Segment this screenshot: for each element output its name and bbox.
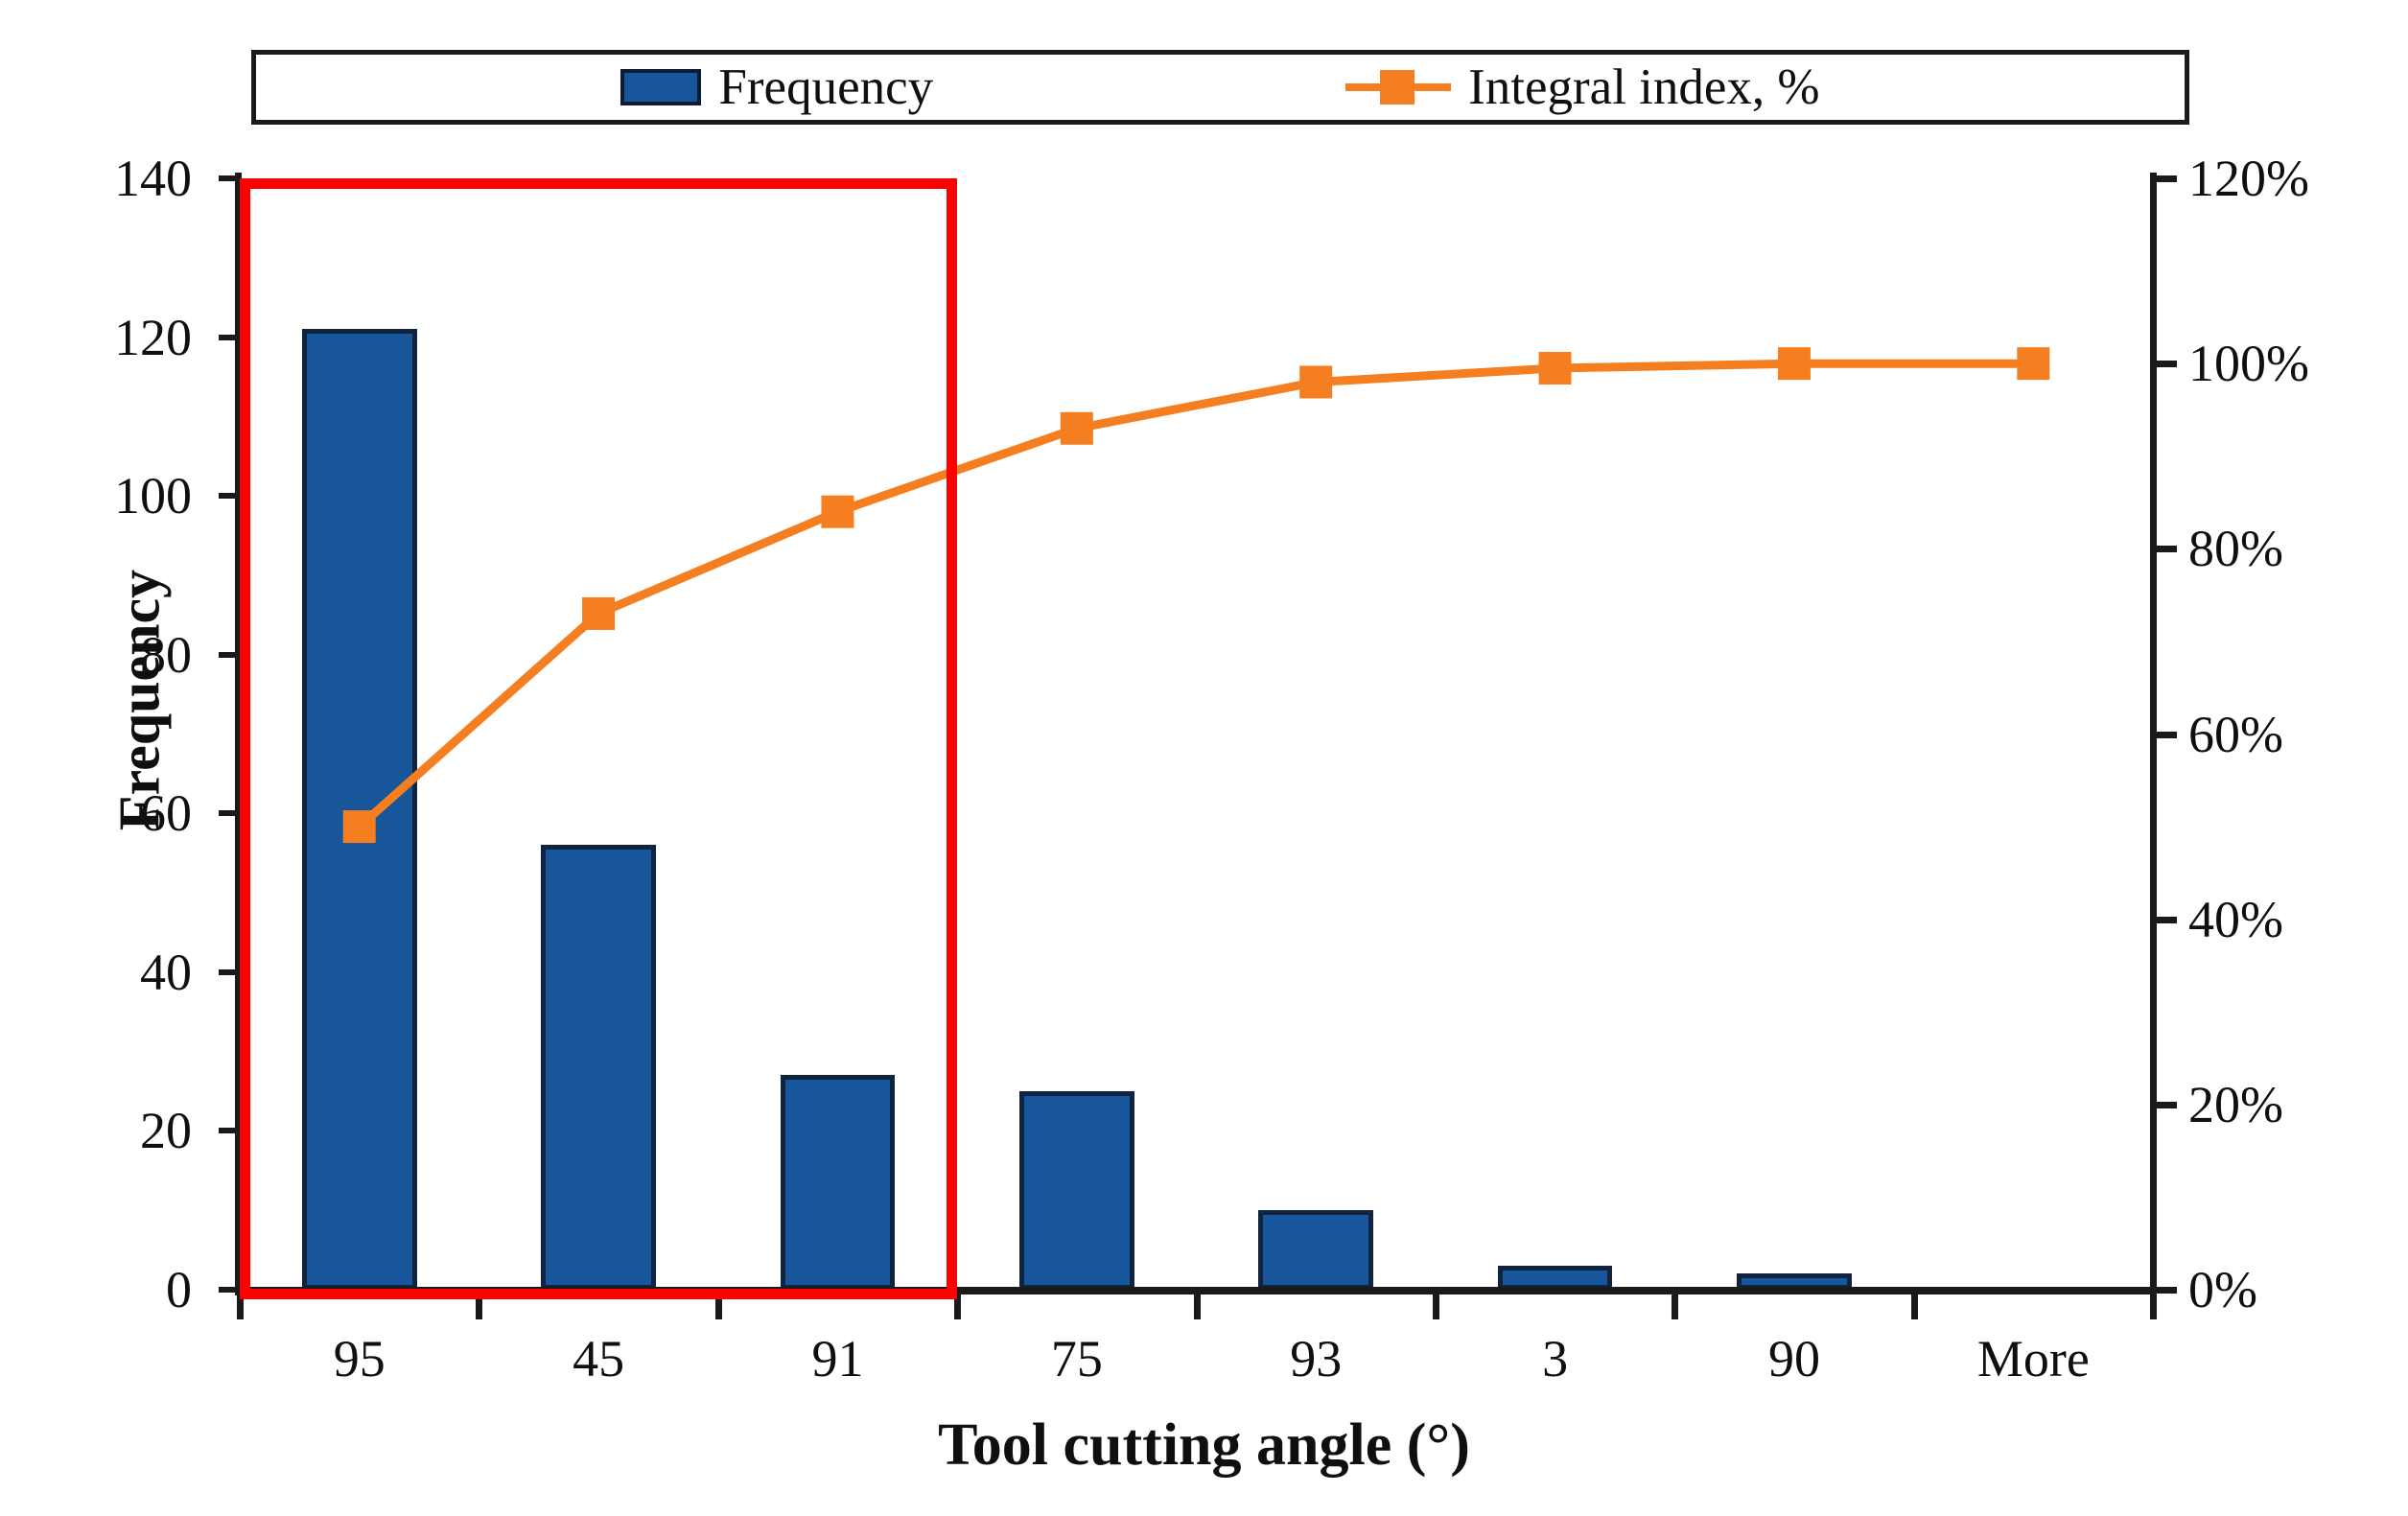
left-axis-tick bbox=[219, 810, 236, 816]
left-axis-tick bbox=[219, 652, 236, 658]
right-axis-tick bbox=[2156, 361, 2177, 367]
line-square-marker-icon bbox=[1345, 69, 1451, 105]
left-axis-tick-label: 0 bbox=[166, 1260, 192, 1319]
x-axis-tick bbox=[1433, 1294, 1439, 1319]
x-axis-category-label: 95 bbox=[334, 1329, 386, 1388]
y-axis-title-wrapper: Frequency bbox=[19, 460, 96, 940]
left-axis-tick bbox=[219, 1128, 236, 1133]
x-axis-tick bbox=[2150, 1294, 2157, 1319]
legend-label-frequency: Frequency bbox=[718, 62, 933, 113]
line-marker-75 bbox=[1061, 412, 1093, 445]
right-axis-tick bbox=[2156, 175, 2177, 182]
chart-legend: Frequency Integral index, % bbox=[251, 50, 2189, 125]
x-axis-category-label: 45 bbox=[573, 1329, 624, 1388]
legend-label-integral-index: Integral index, % bbox=[1468, 62, 1819, 113]
x-axis-category-label: 75 bbox=[1051, 1329, 1103, 1388]
legend-item-frequency[interactable]: Frequency bbox=[620, 62, 933, 113]
x-axis-category-label: 90 bbox=[1768, 1329, 1820, 1388]
right-axis-tick-label: 120% bbox=[2188, 149, 2309, 208]
line-marker-93 bbox=[1299, 365, 1332, 398]
right-axis-tick bbox=[2156, 917, 2177, 923]
right-axis-tick-label: 20% bbox=[2188, 1075, 2283, 1134]
right-axis-tick bbox=[2156, 1102, 2177, 1108]
left-axis-tick-label: 100 bbox=[114, 466, 192, 525]
right-axis-tick-label: 80% bbox=[2188, 519, 2283, 578]
right-axis-tick bbox=[2156, 546, 2177, 552]
pareto-chart: Frequency Integral index, % 020406080100… bbox=[0, 0, 2408, 1516]
left-axis-tick bbox=[219, 175, 236, 181]
x-axis-category-label: 91 bbox=[811, 1329, 863, 1388]
left-axis-tick-label: 120 bbox=[114, 308, 192, 367]
left-axis-tick bbox=[219, 493, 236, 499]
left-axis-tick bbox=[219, 1287, 236, 1293]
right-axis-tick-label: 0% bbox=[2188, 1260, 2257, 1319]
left-axis-tick-label: 40 bbox=[140, 943, 192, 1002]
x-axis-tick bbox=[1194, 1294, 1201, 1319]
bar-swatch-icon bbox=[620, 69, 701, 105]
x-axis-category-label: More bbox=[1977, 1329, 2090, 1388]
x-axis-tick bbox=[1911, 1294, 1918, 1319]
left-axis-tick-label: 20 bbox=[140, 1101, 192, 1160]
line-marker-90 bbox=[1778, 347, 1811, 380]
x-axis-category-label: 3 bbox=[1542, 1329, 1568, 1388]
left-axis-tick bbox=[219, 969, 236, 975]
right-axis-tick-label: 60% bbox=[2188, 705, 2283, 764]
legend-item-integral-index[interactable]: Integral index, % bbox=[1345, 62, 1819, 113]
left-axis-tick-label: 140 bbox=[114, 149, 192, 208]
line-marker-3 bbox=[1539, 352, 1572, 385]
y-axis-title: Frequency bbox=[107, 570, 174, 830]
right-axis-tick-label: 100% bbox=[2188, 334, 2309, 393]
x-axis-title: Tool cutting angle (°) bbox=[0, 1411, 2408, 1480]
right-axis-tick bbox=[2156, 1287, 2177, 1294]
x-axis-category-label: 93 bbox=[1290, 1329, 1342, 1388]
left-axis-tick bbox=[219, 335, 236, 340]
x-axis-tick bbox=[1672, 1294, 1678, 1319]
right-axis-tick bbox=[2156, 732, 2177, 738]
right-axis-tick-label: 40% bbox=[2188, 890, 2283, 949]
line-marker-More bbox=[2017, 347, 2049, 380]
red-highlight-box bbox=[240, 178, 957, 1299]
